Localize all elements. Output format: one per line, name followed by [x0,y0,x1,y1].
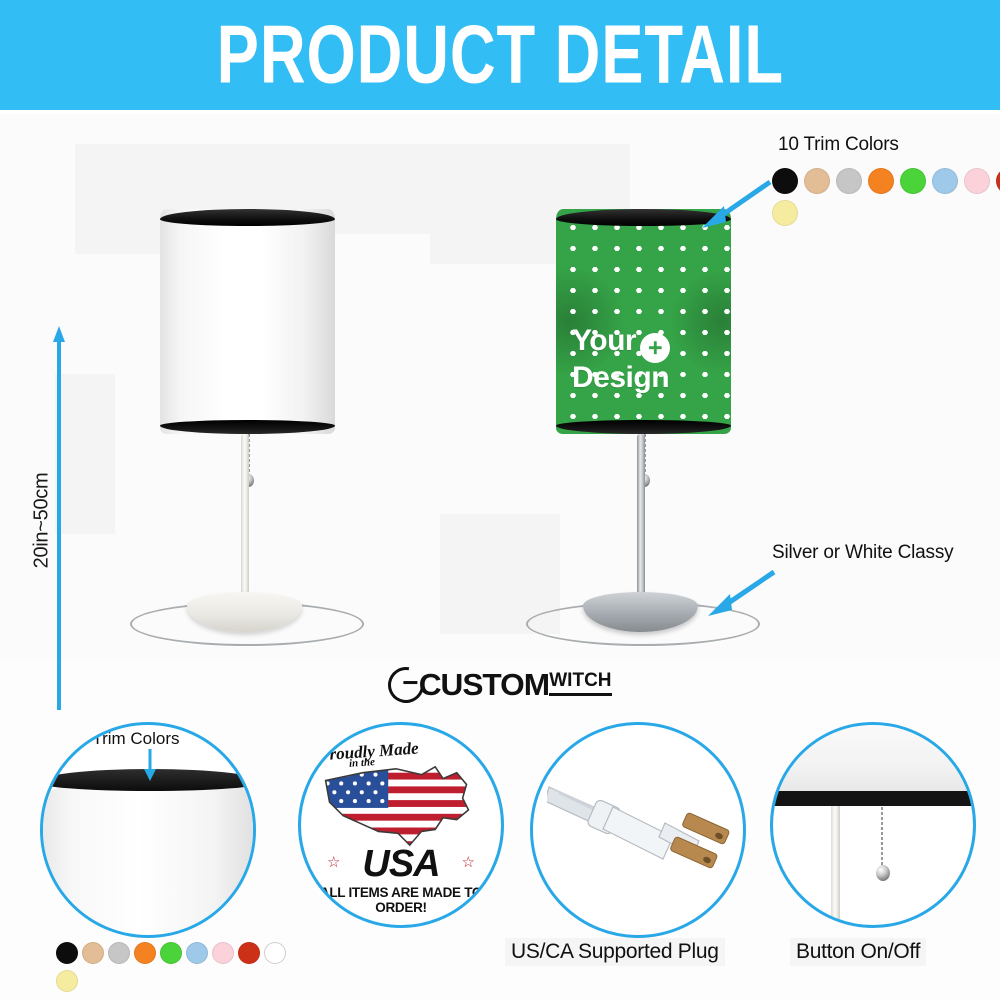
swatch-tan[interactable] [804,168,830,194]
feature-panels: 10 Trim Colors Proudly Made in the [0,710,1000,1000]
lampshade-closeup [770,722,976,797]
swatch-green[interactable] [900,168,926,194]
trim-detail-label: 10 Trim Colors [69,729,180,749]
swatch-green[interactable] [160,942,182,964]
add-design-plus-icon[interactable]: + [640,333,670,363]
pull-chain-ball-closeup[interactable] [876,865,890,881]
lampshade-white [160,209,335,434]
trim-top [160,209,335,226]
panel-made-in-usa: Proudly Made in the [298,722,504,928]
lampshade-closeup [40,773,256,933]
panel-button-onoff [770,722,976,928]
base-finish-pointer-arrow [700,566,780,618]
swatch-white[interactable] [264,942,286,964]
swatch-orange[interactable] [868,168,894,194]
panel-power-plug [530,722,746,938]
swatch-tan[interactable] [82,942,104,964]
bottom-trim-swatches-row1[interactable] [56,942,286,964]
plug-caption: US/CA Supported Plug [505,938,725,966]
product-detail-infographic: PRODUCT DETAIL 7in~18cm 20in~50cm [0,0,1000,1000]
power-plug-icon [547,763,746,883]
trim-bottom [160,420,335,434]
your-design-line2: Design [572,361,669,394]
base-finish-label: Silver or White Classy [772,542,953,564]
lampshade-custom-design: Your+ Design [556,209,731,434]
header-banner: PRODUCT DETAIL [0,0,1000,110]
swatch-pink[interactable] [212,942,234,964]
lamp-pole-silver [637,434,645,612]
swatch-gray[interactable] [108,942,130,964]
bottom-trim-swatches-row2[interactable] [56,970,78,992]
brand-logo: CUSTOM WITCH [0,662,1000,708]
swatch-light-blue[interactable] [932,168,958,194]
trim-detail-down-arrow [143,749,157,781]
your-design-text: Your+ Design [572,326,721,394]
swatch-light-blue[interactable] [186,942,208,964]
trim-colors-pointer-arrow [694,176,776,230]
usa-footer-text: ALL ITEMS ARE MADE TO ORDER! [301,885,501,915]
logo-secondary-text: WITCH [549,670,611,696]
swatch-gray[interactable] [836,168,862,194]
button-onoff-caption: Button On/Off [790,938,926,966]
swatch-red[interactable] [996,168,1000,194]
panel-trim-detail: 10 Trim Colors [40,722,256,938]
usa-star-right-icon: ☆ [462,853,475,871]
logo-primary-text: CUSTOM [419,667,549,703]
page-title: PRODUCT DETAIL [216,14,783,97]
swatch-black[interactable] [56,942,78,964]
height-dimension-label: 20in~50cm [31,451,54,591]
swatch-orange[interactable] [134,942,156,964]
trim-closeup [770,791,976,806]
lamp-pole-white [241,434,249,612]
swatch-red[interactable] [238,942,260,964]
lamp-pole-closeup [831,806,840,926]
swatch-pink[interactable] [964,168,990,194]
trim-color-swatches-row1[interactable] [772,168,1000,194]
pull-chain-closeup[interactable] [881,807,883,867]
main-product-area: 7in~18cm 20in~50cm [0,114,1000,660]
usa-flag-map-icon [319,759,477,851]
polka-dot-pattern [556,209,731,434]
trim-colors-label: 10 Trim Colors [778,134,899,156]
swatch-yellow[interactable] [56,970,78,992]
your-design-line1: Your [572,324,636,357]
